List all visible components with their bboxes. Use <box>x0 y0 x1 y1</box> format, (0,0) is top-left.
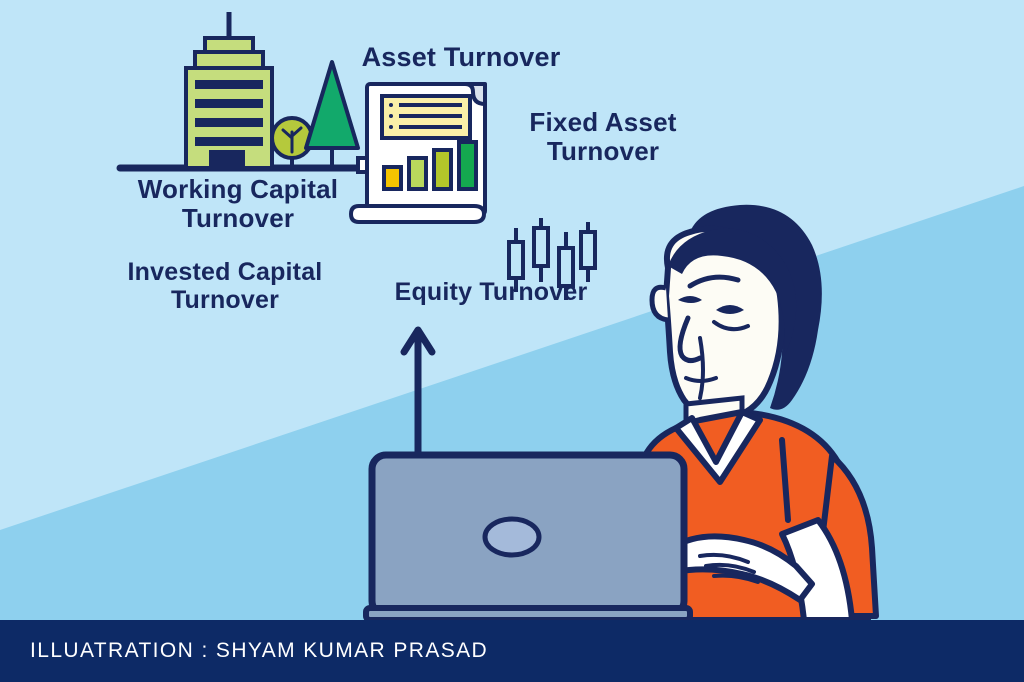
label-fixed-asset-turnover: Fixed Asset Turnover <box>498 108 708 166</box>
illustration-credit: ILLUATRATION : SHYAM KUMAR PRASAD <box>0 639 488 663</box>
person-laptop-layer <box>0 0 1024 682</box>
illustration-canvas: Asset Turnover Fixed Asset Turnover Work… <box>0 0 1024 682</box>
footer-credit-bar: ILLUATRATION : SHYAM KUMAR PRASAD <box>0 620 1024 682</box>
seated-man-icon <box>652 205 822 444</box>
laptop-icon <box>366 455 690 620</box>
label-invested-capital-turnover: Invested Capital Turnover <box>90 258 360 314</box>
label-equity-turnover: Equity Turnover <box>366 278 616 306</box>
label-asset-turnover: Asset Turnover <box>336 42 586 72</box>
laptop-logo <box>485 519 539 555</box>
label-working-capital-turnover: Working Capital Turnover <box>108 175 368 233</box>
